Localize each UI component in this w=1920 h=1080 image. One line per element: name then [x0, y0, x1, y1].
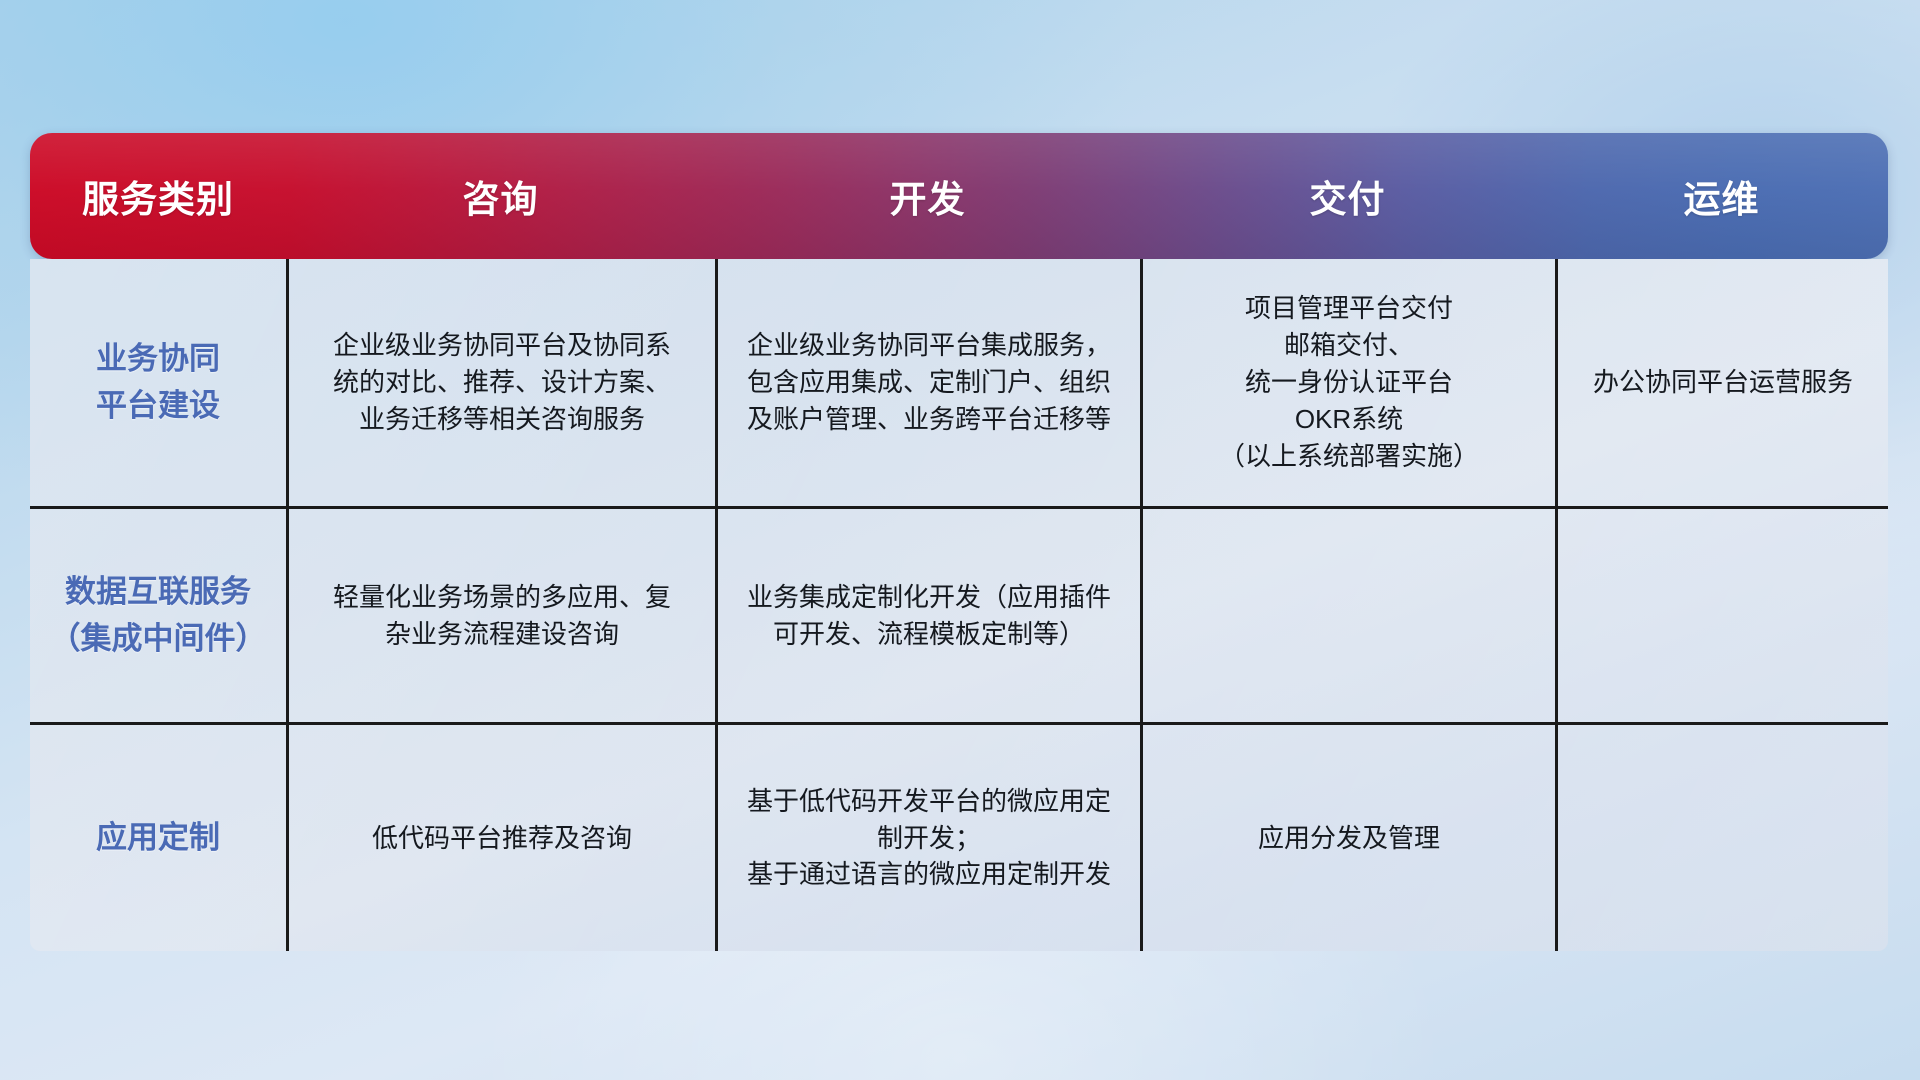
row-label-application-customization: 应用定制	[30, 725, 286, 951]
table-row: 业务协同 平台建设 企业级业务协同平台及协同系 统的对比、推荐、设计方案、 业务…	[30, 259, 1888, 509]
cell-delivery-row1: 项目管理平台交付 邮箱交付、 统一身份认证平台 OKR系统 （以上系统部署实施）	[1140, 259, 1555, 506]
service-category-table: 服务类别 咨询 开发 交付 运维 业务协同 平台建设 企业级业务协同平台及协同系…	[30, 133, 1888, 951]
column-header-delivery: 交付	[1140, 169, 1555, 223]
cell-operations-row2	[1555, 509, 1888, 722]
cell-development-row3: 基于低代码开发平台的微应用定 制开发； 基于通过语言的微应用定制开发	[715, 725, 1140, 951]
cell-consulting-row2: 轻量化业务场景的多应用、复 杂业务流程建设咨询	[286, 509, 715, 722]
cell-operations-row1: 办公协同平台运营服务	[1555, 259, 1888, 506]
row-label-data-interconnect: 数据互联服务 （集成中间件）	[30, 509, 286, 722]
cell-development-row1: 企业级业务协同平台集成服务， 包含应用集成、定制门户、组织 及账户管理、业务跨平…	[715, 259, 1140, 506]
table-row: 应用定制 低代码平台推荐及咨询 基于低代码开发平台的微应用定 制开发； 基于通过…	[30, 725, 1888, 951]
cell-operations-row3	[1555, 725, 1888, 951]
cell-consulting-row3: 低代码平台推荐及咨询	[286, 725, 715, 951]
cell-consulting-row1: 企业级业务协同平台及协同系 统的对比、推荐、设计方案、 业务迁移等相关咨询服务	[286, 259, 715, 506]
column-header-operations: 运维	[1555, 169, 1888, 223]
table-body: 业务协同 平台建设 企业级业务协同平台及协同系 统的对比、推荐、设计方案、 业务…	[30, 259, 1888, 951]
table-header-row: 服务类别 咨询 开发 交付 运维	[30, 133, 1888, 259]
column-header-development: 开发	[715, 169, 1140, 223]
cell-delivery-row2	[1140, 509, 1555, 722]
table-row: 数据互联服务 （集成中间件） 轻量化业务场景的多应用、复 杂业务流程建设咨询 业…	[30, 509, 1888, 725]
row-label-business-collaboration: 业务协同 平台建设	[30, 259, 286, 506]
cell-development-row2: 业务集成定制化开发（应用插件 可开发、流程模板定制等）	[715, 509, 1140, 722]
column-header-service-category: 服务类别	[30, 169, 286, 223]
cell-delivery-row3: 应用分发及管理	[1140, 725, 1555, 951]
column-header-consulting: 咨询	[286, 169, 715, 223]
